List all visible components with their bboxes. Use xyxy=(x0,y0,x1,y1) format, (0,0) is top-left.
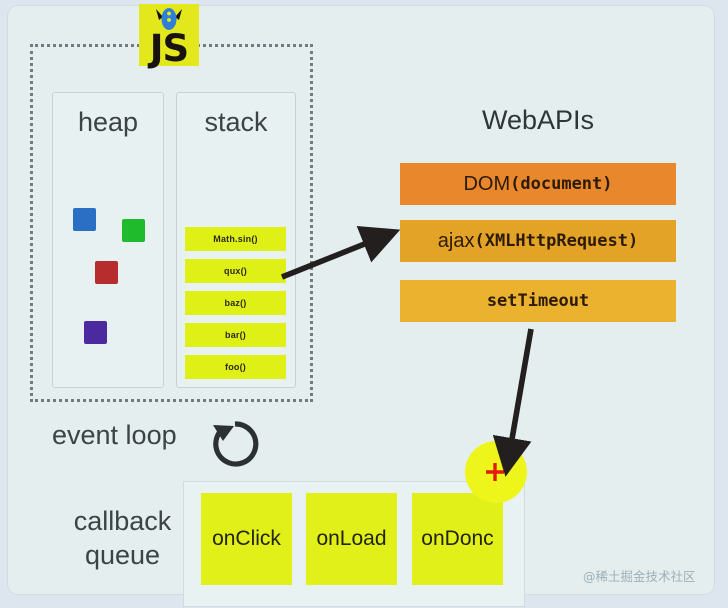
heap-label: heap xyxy=(53,107,163,138)
webapi-item-ajax[interactable]: ajax (XMLHttpRequest) xyxy=(400,220,676,262)
webapis-title: WebAPIs xyxy=(400,105,676,136)
webapi-dom-plain: DOM xyxy=(463,173,510,196)
crosshair-cursor-icon xyxy=(485,462,505,482)
heap-object xyxy=(73,208,96,231)
stack-frame: bar() xyxy=(185,323,286,347)
webapi-item-settimeout[interactable]: setTimeout xyxy=(400,280,676,322)
heap-box: heap xyxy=(52,92,164,388)
bug-icon xyxy=(154,7,184,33)
callback-queue-label: callback queue xyxy=(55,504,190,573)
webapi-ajax-mono: (XMLHttpRequest) xyxy=(474,231,638,251)
callback-item-onload[interactable]: onLoad xyxy=(306,493,397,585)
stack-frame: qux() xyxy=(185,259,286,283)
circular-arrow-icon xyxy=(209,418,261,470)
webapi-item-dom[interactable]: DOM (document) xyxy=(400,163,676,205)
stack-frame: foo() xyxy=(185,355,286,379)
heap-object xyxy=(84,321,107,344)
event-loop-label: event loop xyxy=(52,420,177,451)
diagram-canvas: heap stack Math.sin() qux() baz() bar() … xyxy=(0,0,728,608)
stack-label: stack xyxy=(177,107,295,138)
watermark: @稀土掘金技术社区 xyxy=(583,566,696,585)
webapi-ajax-plain: ajax xyxy=(438,230,475,253)
webapi-dom-mono: (document) xyxy=(510,174,612,194)
js-logo-text: JS xyxy=(150,31,188,67)
callback-queue-label-line1: callback xyxy=(55,504,190,538)
heap-object xyxy=(122,219,145,242)
stack-frame: baz() xyxy=(185,291,286,315)
callback-queue-label-line2: queue xyxy=(55,538,190,572)
stack-frame: Math.sin() xyxy=(185,227,286,251)
heap-object xyxy=(95,261,118,284)
js-logo-badge: JS xyxy=(139,4,199,66)
callback-item-onclick[interactable]: onClick xyxy=(201,493,292,585)
webapi-settimeout-mono: setTimeout xyxy=(487,291,589,311)
stack-box: stack Math.sin() qux() baz() bar() foo() xyxy=(176,92,296,388)
callback-item-ondonc[interactable]: onDonc xyxy=(412,493,503,585)
